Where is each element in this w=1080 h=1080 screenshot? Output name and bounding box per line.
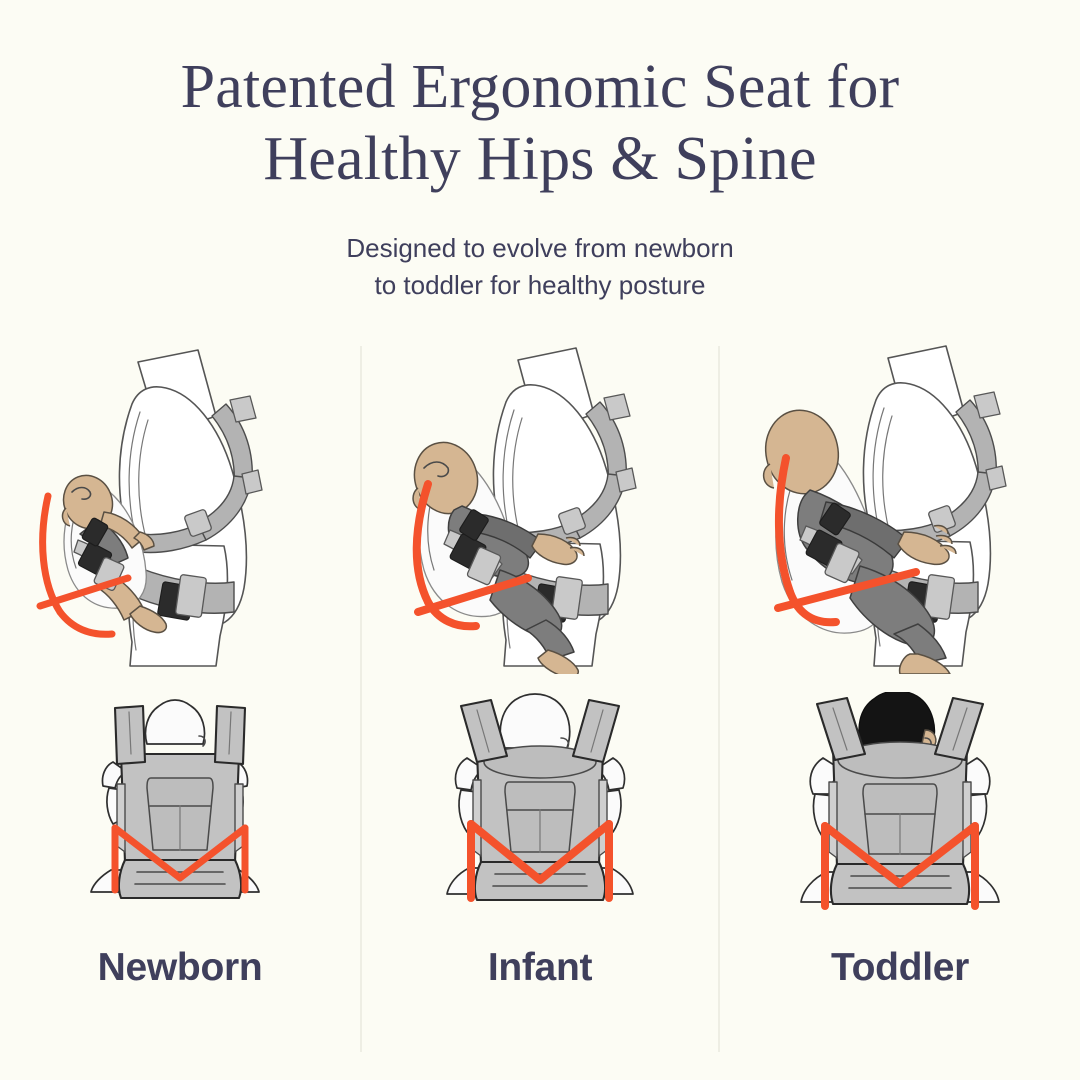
stage-label-toddler: Toddler [831, 948, 969, 987]
baby-carrier-front-view-icon [775, 692, 1025, 922]
header: Patented Ergonomic Seat for Healthy Hips… [0, 0, 1080, 304]
infographic-page: Patented Ergonomic Seat for Healthy Hips… [0, 0, 1080, 1080]
stage-columns: Newborn [0, 328, 1080, 1080]
page-subtitle: Designed to evolve from newborn to toddl… [220, 230, 860, 304]
page-subtitle-line-2: to toddler for healthy posture [220, 267, 860, 304]
page-subtitle-line-1: Designed to evolve from newborn [220, 230, 860, 267]
page-title: Patented Ergonomic Seat for Healthy Hips… [60, 52, 1020, 196]
baby-carrier-front-view-icon [415, 692, 665, 922]
page-title-line-1: Patented Ergonomic Seat for [60, 52, 1020, 124]
stage-column-toddler: Toddler [720, 328, 1080, 1066]
baby-carrier-front-view-icon [55, 692, 305, 922]
baby-in-carrier-side-view-icon [380, 344, 700, 674]
stage-column-newborn: Newborn [0, 328, 360, 1066]
page-title-line-2: Healthy Hips & Spine [60, 124, 1020, 196]
baby-in-carrier-side-view-icon [740, 344, 1060, 674]
stage-label-infant: Infant [488, 948, 592, 987]
stage-label-newborn: Newborn [98, 948, 263, 987]
stage-column-infant: Infant [360, 328, 720, 1066]
baby-in-carrier-side-view-icon [20, 344, 340, 674]
